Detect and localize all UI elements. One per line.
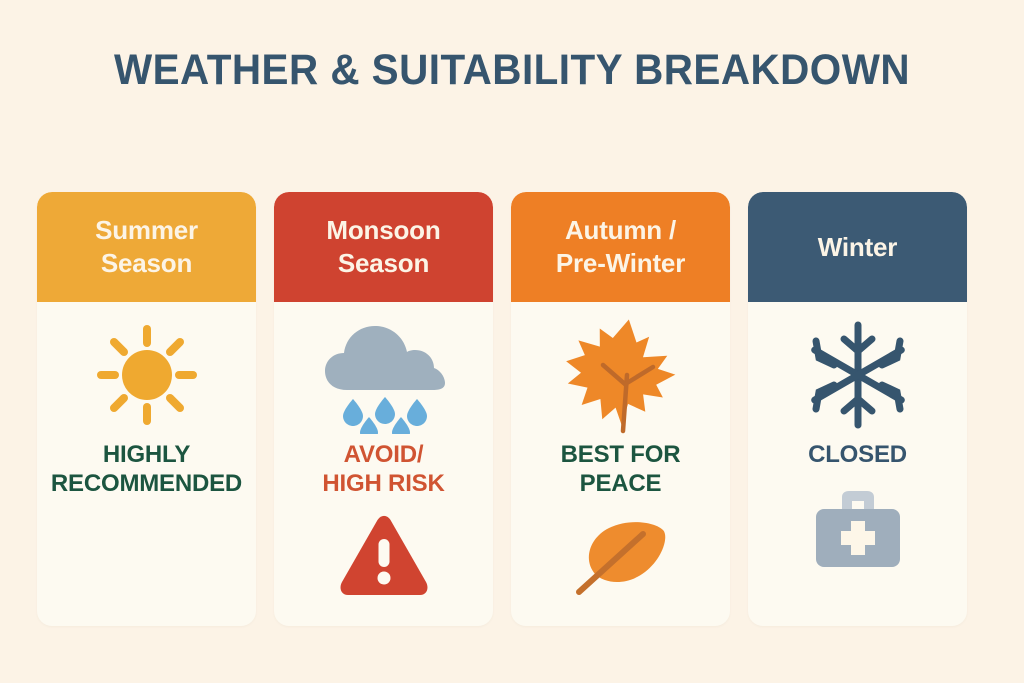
maple-leaf-icon — [561, 316, 681, 434]
card-header-label: Summer Season — [95, 214, 198, 280]
card-header-winter: Winter — [748, 192, 967, 302]
verdict-label-winter: CLOSED — [808, 440, 907, 469]
card-header-label: Winter — [818, 231, 897, 264]
card-body-summer: HIGHLY RECOMMENDED — [37, 302, 256, 626]
first-aid-kit-icon — [808, 483, 908, 591]
card-header-monsoon: Monsoon Season — [274, 192, 493, 302]
page-title: WEATHER & SUITABILITY BREAKDOWN — [31, 44, 994, 96]
season-card-monsoon[interactable]: Monsoon Season AVOID/ HI — [274, 192, 493, 626]
infographic-page: WEATHER & SUITABILITY BREAKDOWN Summer S… — [0, 0, 1024, 683]
card-header-autumn: Autumn / Pre-Winter — [511, 192, 730, 302]
card-header-label: Monsoon Season — [326, 214, 440, 280]
warning-triangle-icon — [336, 512, 432, 620]
verdict-label-monsoon: AVOID/ HIGH RISK — [322, 440, 444, 498]
card-header-label: Autumn / Pre-Winter — [556, 214, 685, 280]
leaf-icon — [567, 512, 675, 620]
season-card-winter[interactable]: Winter — [748, 192, 967, 626]
card-body-autumn: BEST FOR PEACE — [511, 302, 730, 626]
verdict-label-autumn: BEST FOR PEACE — [561, 440, 681, 498]
card-header-summer: Summer Season — [37, 192, 256, 302]
rain-cloud-icon — [319, 316, 449, 434]
snowflake-icon — [802, 316, 914, 434]
verdict-label-summer: HIGHLY RECOMMENDED — [51, 440, 242, 498]
sun-icon — [93, 316, 201, 434]
season-card-list: Summer Season — [37, 192, 987, 626]
card-body-winter: CLOSED — [748, 302, 967, 626]
card-body-monsoon: AVOID/ HIGH RISK — [274, 302, 493, 626]
season-card-summer[interactable]: Summer Season — [37, 192, 256, 626]
season-card-autumn[interactable]: Autumn / Pre-Winter BEST FOR PEACE — [511, 192, 730, 626]
